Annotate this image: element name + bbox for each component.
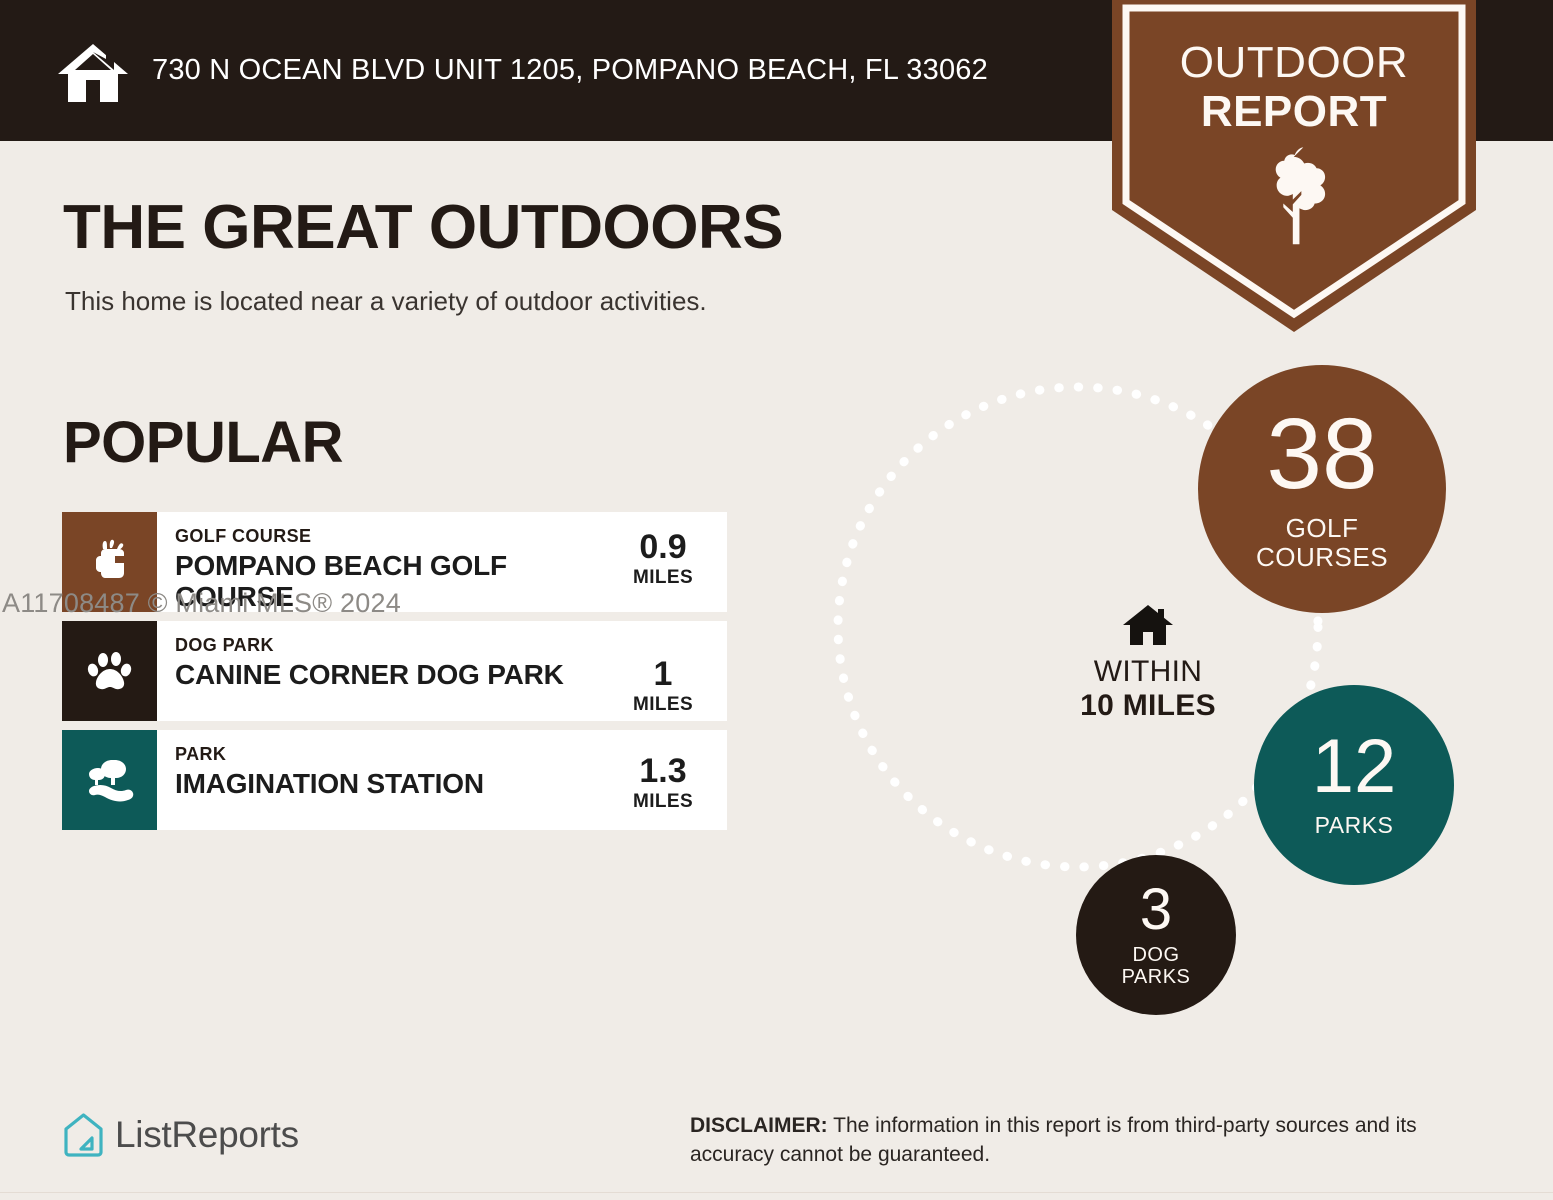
list-item[interactable]: PARK IMAGINATION STATION 1.3 MILES	[62, 730, 727, 830]
popular-list: GOLF COURSE POMPANO BEACH GOLF COURSE 0.…	[62, 512, 727, 839]
within-radius-label: WITHIN 10 MILES	[1048, 603, 1248, 722]
distance-value: 1.3	[607, 754, 719, 788]
stat-label-line-1: PARKS	[1315, 813, 1394, 838]
outdoor-report-badge: OUTDOOR REPORT	[1112, 0, 1476, 332]
park-trees-icon	[62, 730, 157, 830]
distance-value: 0.9	[607, 530, 719, 564]
list-item-distance: 1 MILES	[607, 621, 727, 721]
disclaimer: DISCLAIMER: The information in this repo…	[690, 1112, 1500, 1170]
list-item-category: PARK	[175, 744, 601, 765]
stat-value: 3	[1140, 882, 1172, 937]
list-item-text: DOG PARK CANINE CORNER DOG PARK	[157, 621, 607, 721]
list-item-distance: 0.9 MILES	[607, 512, 727, 612]
list-item[interactable]: DOG PARK CANINE CORNER DOG PARK 1 MILES	[62, 621, 727, 721]
stat-circle-golf-courses: 38 GOLF COURSES	[1198, 365, 1446, 613]
stat-label: DOG PARKS	[1122, 944, 1191, 988]
list-item-distance: 1.3 MILES	[607, 730, 727, 830]
listreports-house-tag-icon	[62, 1112, 115, 1157]
page-title: THE GREAT OUTDOORS	[63, 192, 783, 263]
stat-value: 12	[1312, 731, 1397, 803]
stat-label-line-1: GOLF	[1256, 514, 1388, 543]
within-line-2: 10 MILES	[1048, 689, 1248, 723]
list-item-text: PARK IMAGINATION STATION	[157, 730, 607, 830]
distance-unit: MILES	[607, 567, 719, 589]
stat-label: PARKS	[1315, 813, 1394, 838]
list-item-category: DOG PARK	[175, 635, 601, 656]
stat-label: GOLF COURSES	[1256, 514, 1388, 571]
disclaimer-label: DISCLAIMER:	[690, 1114, 828, 1137]
stat-label-line-1: DOG	[1122, 944, 1191, 966]
bottom-divider	[0, 1192, 1553, 1193]
paw-print-icon	[62, 621, 157, 721]
stat-circle-parks: 12 PARKS	[1254, 685, 1454, 885]
house-icon	[56, 42, 130, 104]
page-subtitle: This home is located near a variety of o…	[65, 286, 707, 317]
stat-circle-dog-parks: 3 DOG PARKS	[1076, 855, 1236, 1015]
listreports-wordmark: ListReports	[115, 1114, 299, 1156]
section-heading-popular: POPULAR	[63, 409, 343, 476]
within-line-1: WITHIN	[1048, 655, 1248, 689]
distance-unit: MILES	[607, 694, 719, 716]
house-icon	[1048, 603, 1248, 647]
within-radius-infographic: WITHIN 10 MILES 38 GOLF COURSES 12 PARKS…	[820, 355, 1510, 1035]
listreports-logo[interactable]: ListReports	[62, 1112, 299, 1157]
distance-value: 1	[607, 657, 719, 691]
list-item-category: GOLF COURSE	[175, 526, 601, 547]
distance-unit: MILES	[607, 791, 719, 813]
list-item-name: IMAGINATION STATION	[175, 768, 601, 799]
property-address: 730 N OCEAN BLVD UNIT 1205, POMPANO BEAC…	[152, 50, 988, 91]
stat-label-line-2: PARKS	[1122, 966, 1191, 988]
stat-label-line-2: COURSES	[1256, 543, 1388, 572]
stat-value: 38	[1266, 407, 1377, 502]
mls-watermark: A11708487 © Miami MLS® 2024	[2, 588, 401, 619]
list-item-name: CANINE CORNER DOG PARK	[175, 659, 601, 690]
